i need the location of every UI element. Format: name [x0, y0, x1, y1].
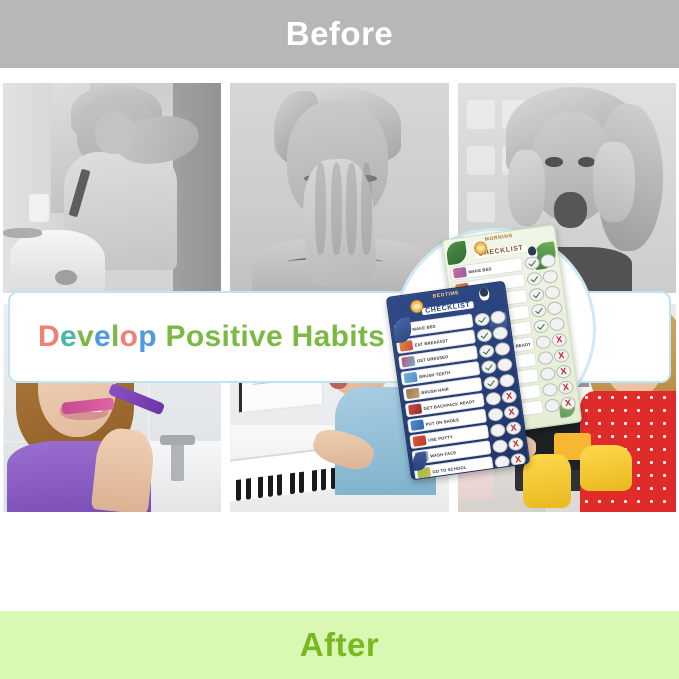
mark-group: [531, 300, 564, 317]
penguin-icon: [478, 287, 490, 301]
check-mark-bubble[interactable]: [476, 327, 493, 342]
task-label: MAKE BED: [468, 266, 492, 274]
product-comparison-image: Before: [0, 0, 679, 679]
headline-letter: p: [138, 320, 157, 354]
headline-word-develop: Develop: [38, 320, 157, 354]
mark-group: [481, 357, 514, 374]
after-banner: After: [0, 611, 679, 679]
x-mark-bubble[interactable]: [508, 436, 525, 451]
mark-group: [485, 389, 518, 406]
card-title-line2: CHECKLIST: [422, 301, 474, 315]
check-mark-bubble[interactable]: [531, 303, 548, 318]
bedtime-checklist-card[interactable]: BEDTIME CHECKLIST MAKE BED EAT BREAFAST: [386, 281, 531, 481]
photo-frustrated-boy: [230, 83, 449, 293]
x-mark-bubble[interactable]: [505, 420, 522, 435]
backpack-icon: [408, 403, 422, 415]
empty-bubble[interactable]: [485, 391, 502, 406]
photo-image: [3, 83, 221, 293]
empty-bubble[interactable]: [540, 253, 557, 268]
task-label: GO TO SCHOOL: [432, 464, 467, 474]
empty-bubble[interactable]: [494, 341, 511, 356]
empty-bubble[interactable]: [490, 309, 507, 324]
x-mark-bubble[interactable]: [557, 380, 574, 395]
task-label: BRUSH TEETH: [419, 370, 451, 379]
check-mark-bubble[interactable]: [474, 312, 491, 327]
shoes-icon: [410, 419, 424, 431]
task-list: MAKE BED EAT BREAFAST: [390, 307, 530, 480]
empty-bubble[interactable]: [549, 316, 566, 331]
headline-text: Develop Positive Habits: [38, 320, 385, 354]
mark-group: [526, 269, 559, 286]
task-label: MAKE BED: [412, 323, 436, 331]
mark-group: [528, 285, 561, 302]
task-label: BRUSH HAIR: [421, 386, 449, 395]
breakfast-icon: [399, 340, 413, 352]
check-mark-bubble[interactable]: [526, 271, 543, 286]
school-icon: [417, 467, 431, 479]
mark-group: [487, 404, 520, 421]
mark-group: [492, 436, 525, 453]
headline-letter: D: [38, 320, 60, 354]
empty-bubble[interactable]: [492, 438, 509, 453]
x-mark-bubble[interactable]: [560, 395, 577, 410]
check-mark-bubble[interactable]: [483, 375, 500, 390]
empty-bubble[interactable]: [496, 357, 513, 372]
x-mark-bubble[interactable]: [551, 332, 568, 347]
before-banner: Before: [0, 0, 679, 68]
mark-group: [478, 341, 511, 358]
x-mark-bubble[interactable]: [553, 348, 570, 363]
mark-group: [474, 309, 507, 326]
headline-letter: l: [111, 320, 120, 354]
x-mark-bubble[interactable]: [501, 389, 518, 404]
headline-letter: e: [60, 320, 77, 354]
clothes-icon: [401, 356, 415, 368]
task-label: USE POTTY: [428, 434, 454, 442]
empty-bubble[interactable]: [542, 382, 559, 397]
empty-bubble[interactable]: [535, 334, 552, 349]
task-label: PUT ON SHOES: [425, 417, 459, 427]
empty-bubble[interactable]: [499, 373, 516, 388]
task-label: GET BACKPACK READY: [423, 398, 475, 410]
check-mark-bubble[interactable]: [478, 343, 495, 358]
bed-icon: [453, 267, 467, 279]
hairbrush-icon: [406, 388, 420, 400]
bed-icon: [397, 324, 411, 336]
check-mark-bubble[interactable]: [533, 318, 550, 333]
headline-letter: o: [120, 320, 139, 354]
empty-bubble[interactable]: [487, 407, 504, 422]
empty-bubble[interactable]: [544, 398, 561, 413]
photo-image: [230, 83, 449, 293]
check-mark-bubble[interactable]: [481, 359, 498, 374]
empty-bubble[interactable]: [546, 300, 563, 315]
task-label: WASH FACE: [430, 449, 457, 458]
task-label: GET DRESSED: [416, 354, 448, 363]
x-mark-bubble[interactable]: [555, 364, 572, 379]
empty-bubble[interactable]: [539, 366, 556, 381]
after-label: After: [300, 626, 380, 664]
check-mark-bubble[interactable]: [528, 287, 545, 302]
mark-group: [476, 325, 509, 342]
washface-icon: [415, 451, 429, 463]
potty-icon: [412, 435, 426, 447]
toothbrush-icon: [403, 372, 417, 384]
empty-bubble[interactable]: [494, 454, 511, 469]
mark-group: [537, 348, 570, 365]
check-mark-bubble[interactable]: [524, 255, 541, 270]
mark-group: [544, 395, 577, 412]
card-title: BEDTIME CHECKLIST: [420, 289, 474, 317]
headline-letter: e: [94, 320, 111, 354]
mark-group: [483, 373, 516, 390]
mark-group: [535, 332, 568, 349]
empty-bubble[interactable]: [492, 325, 509, 340]
empty-bubble[interactable]: [489, 422, 506, 437]
mark-group: [489, 420, 522, 437]
mark-group: [533, 316, 566, 333]
x-mark-bubble[interactable]: [510, 452, 527, 467]
x-mark-bubble[interactable]: [503, 404, 520, 419]
task-label: EAT BREAFAST: [414, 338, 448, 348]
mark-group: [542, 380, 575, 397]
empty-bubble[interactable]: [544, 285, 561, 300]
headline-letter: v: [77, 320, 94, 354]
card-title-line1: BEDTIME: [420, 289, 472, 301]
before-label: Before: [286, 15, 394, 53]
mark-group: [539, 364, 572, 381]
photo-girl-brushing-teeth-bathroom: [3, 83, 221, 293]
empty-bubble[interactable]: [542, 269, 559, 284]
empty-bubble[interactable]: [537, 350, 554, 365]
headline-word-positive-habits: Positive Habits: [166, 320, 386, 354]
